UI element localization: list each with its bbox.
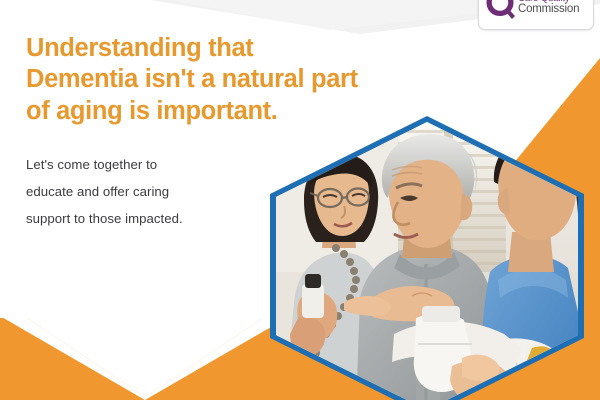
- subtitle-text: Let's come together to educate and offer…: [26, 152, 271, 232]
- hexagon-photo-frame: [270, 116, 584, 400]
- care-quality-commission-logo: Care Quality Commission: [478, 0, 594, 30]
- logo-line-commission: Commission: [518, 4, 587, 16]
- logo-wordmark: Care Quality Commission: [518, 0, 587, 15]
- headline-text: Understanding that Dementia isn't a natu…: [26, 33, 446, 127]
- logo-q-icon: [485, 0, 515, 21]
- poster-canvas: Care Quality Commission Understanding th…: [0, 0, 600, 400]
